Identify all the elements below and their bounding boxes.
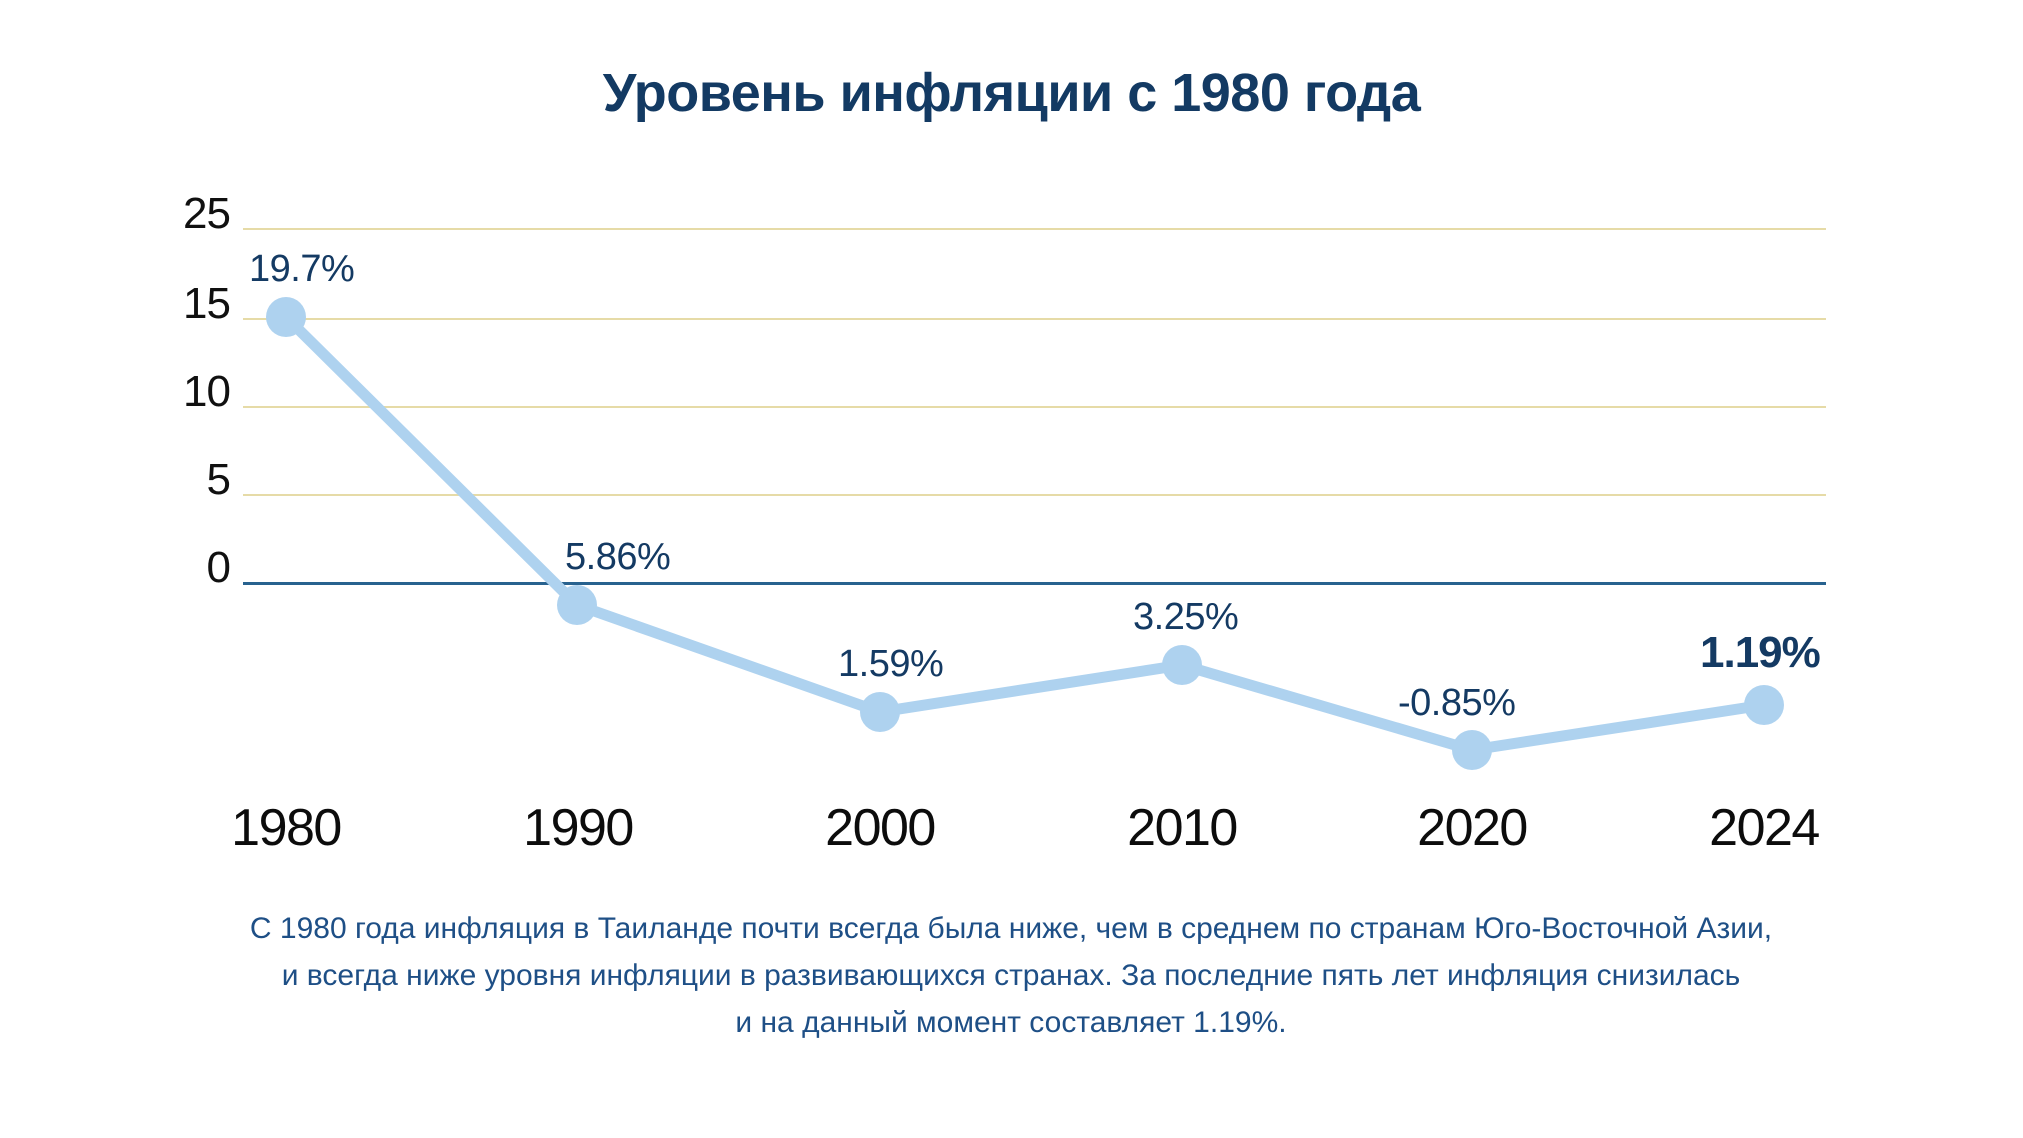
data-point-2024[interactable] — [1744, 685, 1784, 725]
data-label-1980: 19.7% — [249, 248, 354, 291]
data-point-1980[interactable] — [266, 297, 306, 337]
caption-line-1: С 1980 года инфляция в Таиланде почти вс… — [161, 905, 1861, 952]
chart-plot-area: 25 15 10 5 0 19.7% 5.86% 1.59% 3.25% -0.… — [0, 0, 2023, 900]
series-line — [286, 317, 1764, 750]
data-label-2000: 1.59% — [838, 643, 943, 686]
x-axis-tick-2024: 2024 — [1644, 798, 1884, 858]
data-point-1990[interactable] — [557, 585, 597, 625]
data-label-1990: 5.86% — [565, 536, 670, 579]
caption-line-2: и всегда ниже уровня инфляции в развиваю… — [161, 952, 1861, 999]
data-point-2020[interactable] — [1452, 730, 1492, 770]
data-point-2000[interactable] — [860, 692, 900, 732]
chart-caption: С 1980 года инфляция в Таиланде почти вс… — [161, 905, 1861, 1046]
data-point-2010[interactable] — [1162, 645, 1202, 685]
x-axis-tick-2020: 2020 — [1352, 798, 1592, 858]
x-axis-tick-1980: 1980 — [166, 798, 406, 858]
inflation-line-series — [0, 0, 2023, 900]
x-axis-tick-2010: 2010 — [1062, 798, 1302, 858]
data-label-2010: 3.25% — [1133, 596, 1238, 639]
data-label-2024: 1.19% — [1700, 628, 1820, 678]
data-label-2020: -0.85% — [1398, 682, 1515, 725]
caption-line-3: и на данный момент составляет 1.19%. — [161, 999, 1861, 1046]
x-axis-tick-1990: 1990 — [458, 798, 698, 858]
x-axis-tick-2000: 2000 — [760, 798, 1000, 858]
